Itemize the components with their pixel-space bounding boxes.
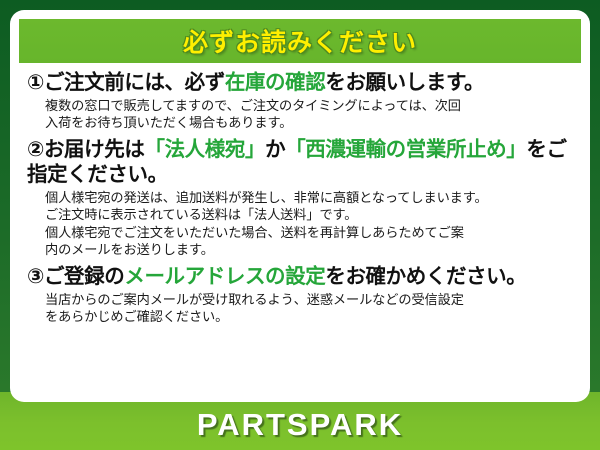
notice-card: 必ずお読みください ①ご注文前には、必ず在庫の確認をお願いします。 複数の窓口で… [10, 10, 590, 402]
notice-heading-2-highlight-corporate: 「法人様宛」 [144, 138, 265, 161]
brand-logo-text: PARTSPARK [197, 407, 403, 443]
header-banner: 必ずお読みください [19, 19, 581, 63]
notice-body-3: 当店からのご案内メールが受け取れるよう、迷惑メールなどの受信設定 をあらかじめご… [27, 291, 573, 326]
notice-heading-2-part-2: か [265, 138, 285, 161]
page-title: 必ずお読みください [183, 23, 417, 59]
notice-banner-image: 必ずお読みください ①ご注文前には、必ず在庫の確認をお願いします。 複数の窓口で… [0, 0, 600, 450]
notice-heading-1-part-0: ①ご注文前には、必ず [27, 71, 225, 94]
notice-item-2: ②お届け先は「法人様宛」か「西濃運輸の営業所止め」をご指定ください。 個人様宅宛… [27, 137, 573, 259]
notice-item-1: ①ご注文前には、必ず在庫の確認をお願いします。 複数の窓口で販売してますので、ご… [27, 70, 573, 132]
notice-list: ①ご注文前には、必ず在庫の確認をお願いします。 複数の窓口で販売してますので、ご… [19, 63, 581, 325]
notice-body-2: 個人様宅宛の発送は、追加送料が発生し、非常に高額となってしまいます。 ご注文時に… [27, 189, 573, 259]
notice-heading-1: ①ご注文前には、必ず在庫の確認をお願いします。 [27, 70, 573, 95]
notice-heading-1-part-2: をお願いします。 [325, 71, 484, 94]
notice-heading-3-part-0: ③ご登録の [27, 265, 124, 288]
notice-heading-2-highlight-seino: 「西濃運輸の営業所止め」 [285, 138, 526, 161]
notice-item-3: ③ご登録のメールアドレスの設定をお確かめください。 当店からのご案内メールが受け… [27, 264, 573, 326]
notice-heading-1-highlight: 在庫の確認 [225, 71, 326, 94]
brand-footer: PARTSPARK [0, 407, 600, 443]
notice-heading-3-highlight: メールアドレスの設定 [124, 265, 325, 288]
notice-heading-2: ②お届け先は「法人様宛」か「西濃運輸の営業所止め」をご指定ください。 [27, 137, 573, 187]
notice-heading-3-part-2: をお確かめください。 [325, 265, 526, 288]
notice-body-1: 複数の窓口で販売してますので、ご注文のタイミングによっては、次回 入荷をお待ち頂… [27, 97, 573, 132]
notice-heading-3: ③ご登録のメールアドレスの設定をお確かめください。 [27, 264, 573, 289]
notice-heading-2-part-0: ②お届け先は [27, 138, 144, 161]
